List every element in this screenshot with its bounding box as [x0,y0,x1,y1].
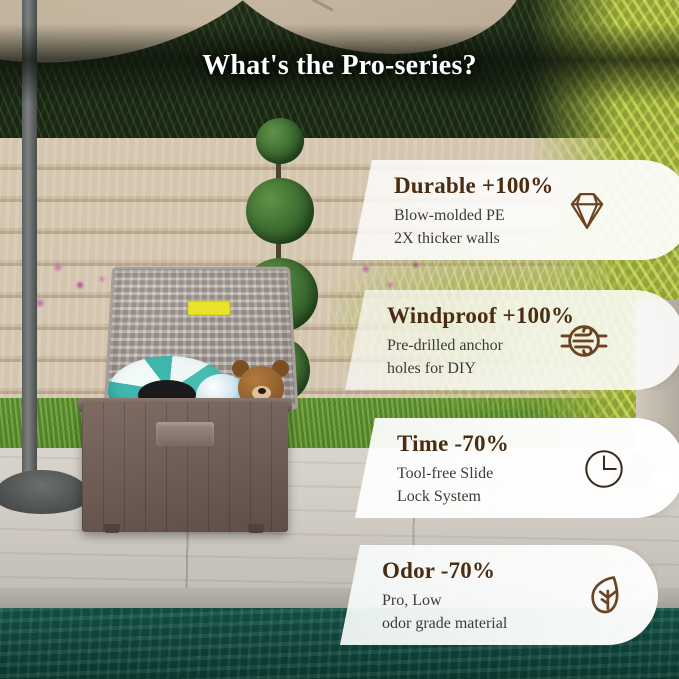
feature-card-time: Time -70% Tool-free Slide Lock System [355,418,679,518]
feature-line-2: odor grade material [382,615,507,633]
feature-line-1: Pre-drilled anchor [387,337,503,355]
feature-title: Time -70% [397,431,509,457]
topiary-ball [256,118,304,164]
warning-label [187,301,230,316]
topiary-ball [246,178,314,244]
deck-box-foot [104,524,120,533]
diamond-icon [560,184,614,238]
product-feature-graphic: What's the Pro-series? Durable +100% Blo… [0,0,679,679]
feature-card-odor: Odor -70% Pro, Low odor grade material [340,545,658,645]
deck-box-product [82,262,294,534]
feature-title: Odor -70% [382,558,495,584]
deck-box-handle [156,422,214,446]
feature-line-2: holes for DIY [387,360,476,378]
feature-line-1: Pro, Low [382,592,442,610]
clock-icon [577,442,631,496]
feature-line-2: 2X thicker walls [394,230,500,248]
deck-box-foot [248,524,264,533]
feature-card-windproof: Windproof +100% Pre-drilled anchor holes… [345,290,679,390]
wind-icon [557,314,611,368]
leaf-icon [580,569,634,623]
feature-title: Windproof +100% [387,303,574,329]
page-title: What's the Pro-series? [0,50,679,82]
feature-line-1: Tool-free Slide [397,465,493,483]
teddy-bear-nose [258,388,266,394]
feature-card-durable: Durable +100% Blow-molded PE 2X thicker … [352,160,679,260]
feature-title: Durable +100% [394,173,553,199]
feature-line-1: Blow-molded PE [394,207,505,225]
feature-line-2: Lock System [397,488,481,506]
